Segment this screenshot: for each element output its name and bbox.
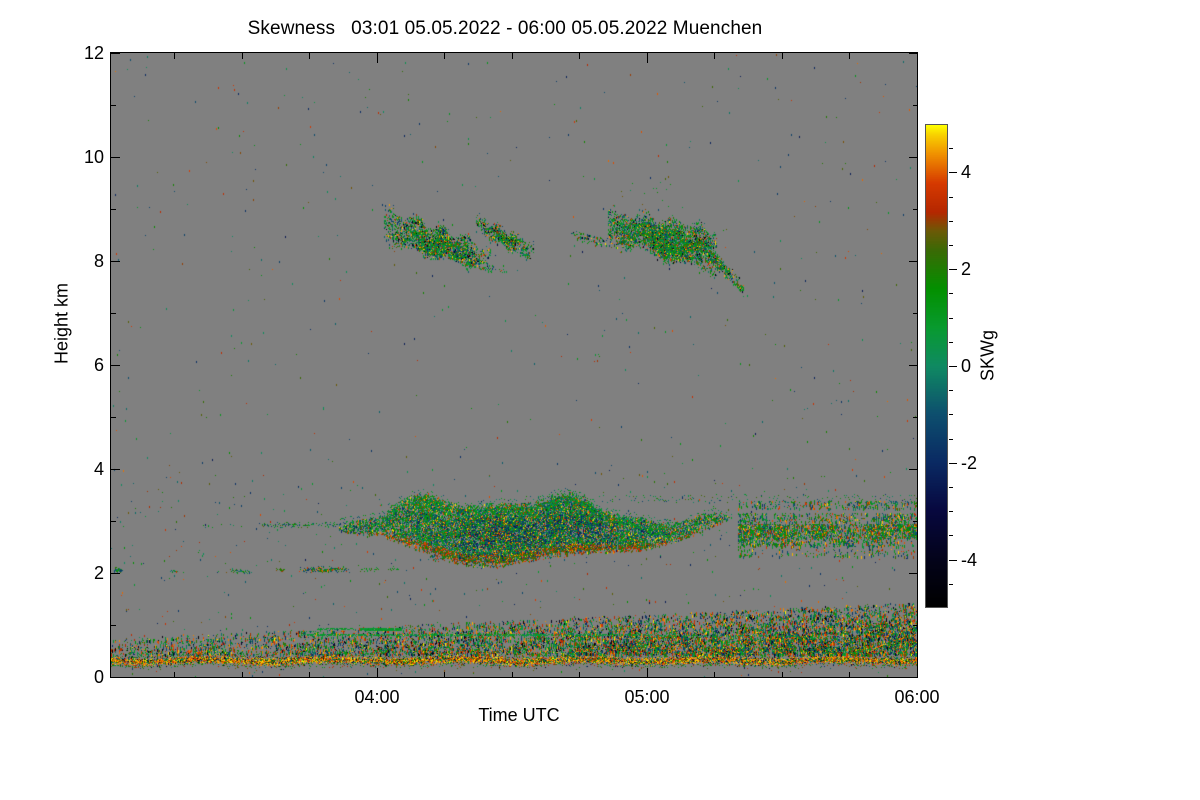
colorbar-tick-major	[949, 366, 957, 367]
colorbar-tick-minor	[949, 439, 953, 440]
y-tick-minor-right	[913, 625, 918, 626]
y-tick-minor	[111, 521, 116, 522]
x-tick-minor	[512, 672, 513, 678]
colorbar-tick-minor	[949, 245, 953, 246]
x-tick-major	[377, 668, 378, 678]
x-tick-major-top	[377, 53, 378, 63]
x-tick-minor	[444, 672, 445, 678]
y-tick-major-right	[909, 469, 918, 470]
y-tick-minor	[111, 313, 116, 314]
x-tick-minor	[579, 672, 580, 678]
y-tick-major	[111, 469, 120, 470]
y-tick-minor-right	[913, 105, 918, 106]
y-tick-major	[111, 157, 120, 158]
colorbar-tick-minor	[949, 197, 953, 198]
x-tick-minor	[242, 672, 243, 678]
colorbar-tick-label: 2	[961, 260, 971, 278]
x-tick-minor	[782, 672, 783, 678]
x-tick-label: 05:00	[587, 688, 707, 706]
colorbar-tick-minor	[949, 487, 953, 488]
x-tick-major-top	[917, 53, 918, 63]
y-tick-major-right	[909, 261, 918, 262]
colorbar-tick-major	[949, 269, 957, 270]
y-tick-label: 2	[44, 564, 104, 582]
y-tick-minor-right	[913, 209, 918, 210]
colorbar-tick-minor	[949, 511, 953, 512]
colorbar-tick-minor	[949, 584, 953, 585]
y-tick-minor	[111, 105, 116, 106]
x-tick-label: 04:00	[317, 688, 437, 706]
x-tick-minor-top	[849, 53, 850, 59]
x-tick-minor	[309, 672, 310, 678]
colorbar-tick-major	[949, 172, 957, 173]
x-tick-minor-top	[579, 53, 580, 59]
y-tick-label: 10	[44, 148, 104, 166]
y-tick-label: 4	[44, 460, 104, 478]
x-tick-major-top	[647, 53, 648, 63]
colorbar-tick-minor	[949, 293, 953, 294]
colorbar-gradient-canvas	[926, 125, 947, 607]
x-tick-minor	[849, 672, 850, 678]
y-tick-label: 12	[44, 44, 104, 62]
colorbar-tick-minor	[949, 318, 953, 319]
y-tick-label: 0	[44, 668, 104, 686]
plot-title: Skewness 03:01 05.05.2022 - 06:00 05.05.…	[0, 18, 1010, 40]
y-tick-minor	[111, 417, 116, 418]
colorbar-tick-minor	[949, 390, 953, 391]
x-tick-major	[917, 668, 918, 678]
x-tick-minor-top	[309, 53, 310, 59]
colorbar	[925, 124, 948, 608]
colorbar-tick-major	[949, 560, 957, 561]
y-tick-minor-right	[913, 313, 918, 314]
skewness-time-height-plot: Skewness 03:01 05.05.2022 - 06:00 05.05.…	[0, 0, 1200, 800]
y-tick-minor-right	[913, 521, 918, 522]
x-tick-label: 06:00	[857, 688, 977, 706]
x-tick-minor-top	[174, 53, 175, 59]
colorbar-tick-label: 0	[961, 357, 971, 375]
colorbar-tick-minor	[949, 148, 953, 149]
x-axis-title: Time UTC	[454, 705, 584, 726]
y-tick-minor	[111, 209, 116, 210]
y-tick-major-right	[909, 365, 918, 366]
x-tick-minor-top	[444, 53, 445, 59]
y-tick-major	[111, 677, 120, 678]
y-tick-major	[111, 53, 120, 54]
heatmap-data-canvas	[111, 53, 917, 677]
colorbar-tick-major	[949, 463, 957, 464]
y-tick-major	[111, 573, 120, 574]
x-tick-minor	[714, 672, 715, 678]
colorbar-tick-label: -2	[961, 454, 977, 472]
colorbar-tick-label: 4	[961, 163, 971, 181]
y-tick-major-right	[909, 157, 918, 158]
colorbar-tick-minor	[949, 535, 953, 536]
y-tick-major	[111, 261, 120, 262]
x-tick-minor-top	[782, 53, 783, 59]
colorbar-tick-minor	[949, 221, 953, 222]
colorbar-tick-minor	[949, 342, 953, 343]
plot-axes-area	[110, 52, 918, 678]
y-tick-major	[111, 365, 120, 366]
y-tick-minor	[111, 625, 116, 626]
x-tick-minor-top	[512, 53, 513, 59]
colorbar-tick-label: -4	[961, 551, 977, 569]
colorbar-title: SKWg	[978, 306, 999, 406]
x-tick-minor-top	[714, 53, 715, 59]
x-tick-major	[647, 668, 648, 678]
colorbar-tick-minor	[949, 414, 953, 415]
y-axis-title: Height km	[52, 249, 73, 399]
y-tick-major-right	[909, 573, 918, 574]
x-tick-minor	[174, 672, 175, 678]
y-tick-minor-right	[913, 417, 918, 418]
x-tick-minor-top	[242, 53, 243, 59]
